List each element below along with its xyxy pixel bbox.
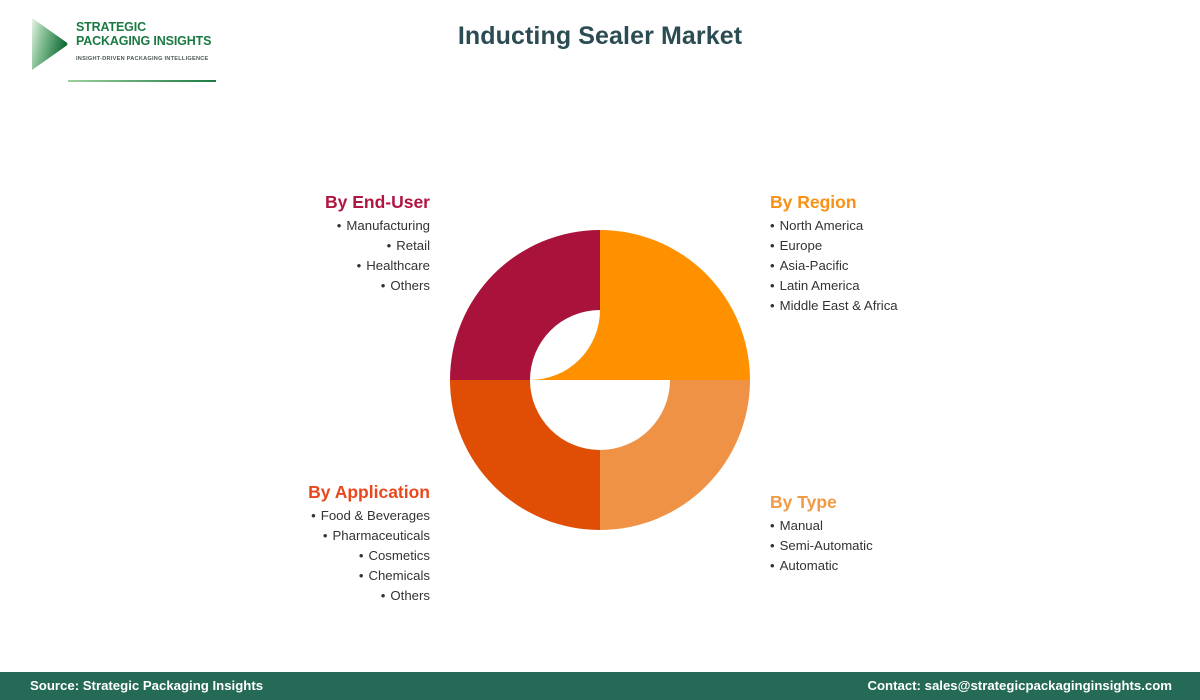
list-item: •Retail (180, 236, 430, 256)
bullet-icon: • (770, 278, 780, 293)
list-item-label: Manual (780, 518, 823, 533)
bullet-icon: • (770, 538, 780, 553)
list-item-label: Manufacturing (346, 218, 430, 233)
segment-title-region: By Region (770, 192, 1030, 212)
list-item: •Automatic (770, 556, 1030, 576)
donut-slice-type[interactable] (600, 380, 750, 530)
donut-slice-application[interactable] (450, 380, 600, 530)
list-item-label: Semi-Automatic (780, 538, 873, 553)
footer-source-text: Source: Strategic Packaging Insights (30, 672, 263, 700)
market-segment-donut-chart (450, 230, 750, 530)
bullet-icon: • (770, 258, 780, 273)
segment-title-type: By Type (770, 492, 1030, 512)
list-item-label: North America (780, 218, 864, 233)
bullet-icon: • (337, 218, 347, 233)
segment-list-type: •Manual•Semi-Automatic•Automatic (770, 516, 1030, 576)
bullet-icon: • (770, 298, 780, 313)
segment-block-application: By Application •Food & Beverages•Pharmac… (170, 482, 430, 606)
segment-title-end-user: By End-User (180, 192, 430, 212)
list-item: •Manufacturing (180, 216, 430, 236)
list-item-label: Healthcare (366, 258, 430, 273)
segment-block-type: By Type •Manual•Semi-Automatic•Automatic (770, 492, 1030, 576)
segment-title-application: By Application (170, 482, 430, 502)
list-item: •Semi-Automatic (770, 536, 1030, 556)
bullet-icon: • (357, 258, 367, 273)
list-item: •Europe (770, 236, 1030, 256)
footer-bar: Source: Strategic Packaging Insights Con… (0, 672, 1200, 700)
list-item-label: Others (390, 278, 430, 293)
segment-list-region: •North America•Europe•Asia-Pacific•Latin… (770, 216, 1030, 316)
page-title: Inducting Sealer Market (0, 22, 1200, 51)
bullet-icon: • (770, 558, 780, 573)
list-item-label: Latin America (780, 278, 860, 293)
donut-slice-end-user[interactable] (450, 230, 600, 380)
list-item-label: Europe (780, 238, 823, 253)
list-item-label: Retail (396, 238, 430, 253)
list-item-label: Middle East & Africa (780, 298, 898, 313)
list-item: •Pharmaceuticals (170, 526, 430, 546)
list-item-label: Pharmaceuticals (333, 528, 430, 543)
segment-block-end-user: By End-User •Manufacturing•Retail•Health… (180, 192, 430, 296)
list-item-label: Asia-Pacific (780, 258, 849, 273)
bullet-icon: • (381, 588, 391, 603)
segment-block-region: By Region •North America•Europe•Asia-Pac… (770, 192, 1030, 316)
footer-contact-text[interactable]: Contact: sales@strategicpackaginginsight… (867, 672, 1172, 700)
bullet-icon: • (359, 568, 369, 583)
list-item: •Food & Beverages (170, 506, 430, 526)
list-item-label: Food & Beverages (321, 508, 430, 523)
list-item: •North America (770, 216, 1030, 236)
list-item: •Others (170, 586, 430, 606)
list-item-label: Cosmetics (368, 548, 430, 563)
bullet-icon: • (323, 528, 333, 543)
segment-list-end-user: •Manufacturing•Retail•Healthcare•Others (180, 216, 430, 296)
bullet-icon: • (770, 218, 780, 233)
segment-list-application: •Food & Beverages•Pharmaceuticals•Cosmet… (170, 506, 430, 606)
bullet-icon: • (359, 548, 369, 563)
list-item-label: Others (390, 588, 430, 603)
bullet-icon: • (770, 238, 780, 253)
list-item: •Healthcare (180, 256, 430, 276)
list-item-label: Chemicals (368, 568, 430, 583)
list-item-label: Automatic (780, 558, 839, 573)
list-item: •Middle East & Africa (770, 296, 1030, 316)
list-item: •Chemicals (170, 566, 430, 586)
list-item: •Asia-Pacific (770, 256, 1030, 276)
list-item: •Manual (770, 516, 1030, 536)
list-item: •Others (180, 276, 430, 296)
bullet-icon: • (311, 508, 321, 523)
bullet-icon: • (387, 238, 397, 253)
bullet-icon: • (381, 278, 391, 293)
list-item: •Cosmetics (170, 546, 430, 566)
list-item: •Latin America (770, 276, 1030, 296)
logo-underline-rule (68, 80, 216, 82)
bullet-icon: • (770, 518, 780, 533)
logo-tagline: INSIGHT-DRIVEN PACKAGING INTELLIGENCE (76, 56, 226, 62)
